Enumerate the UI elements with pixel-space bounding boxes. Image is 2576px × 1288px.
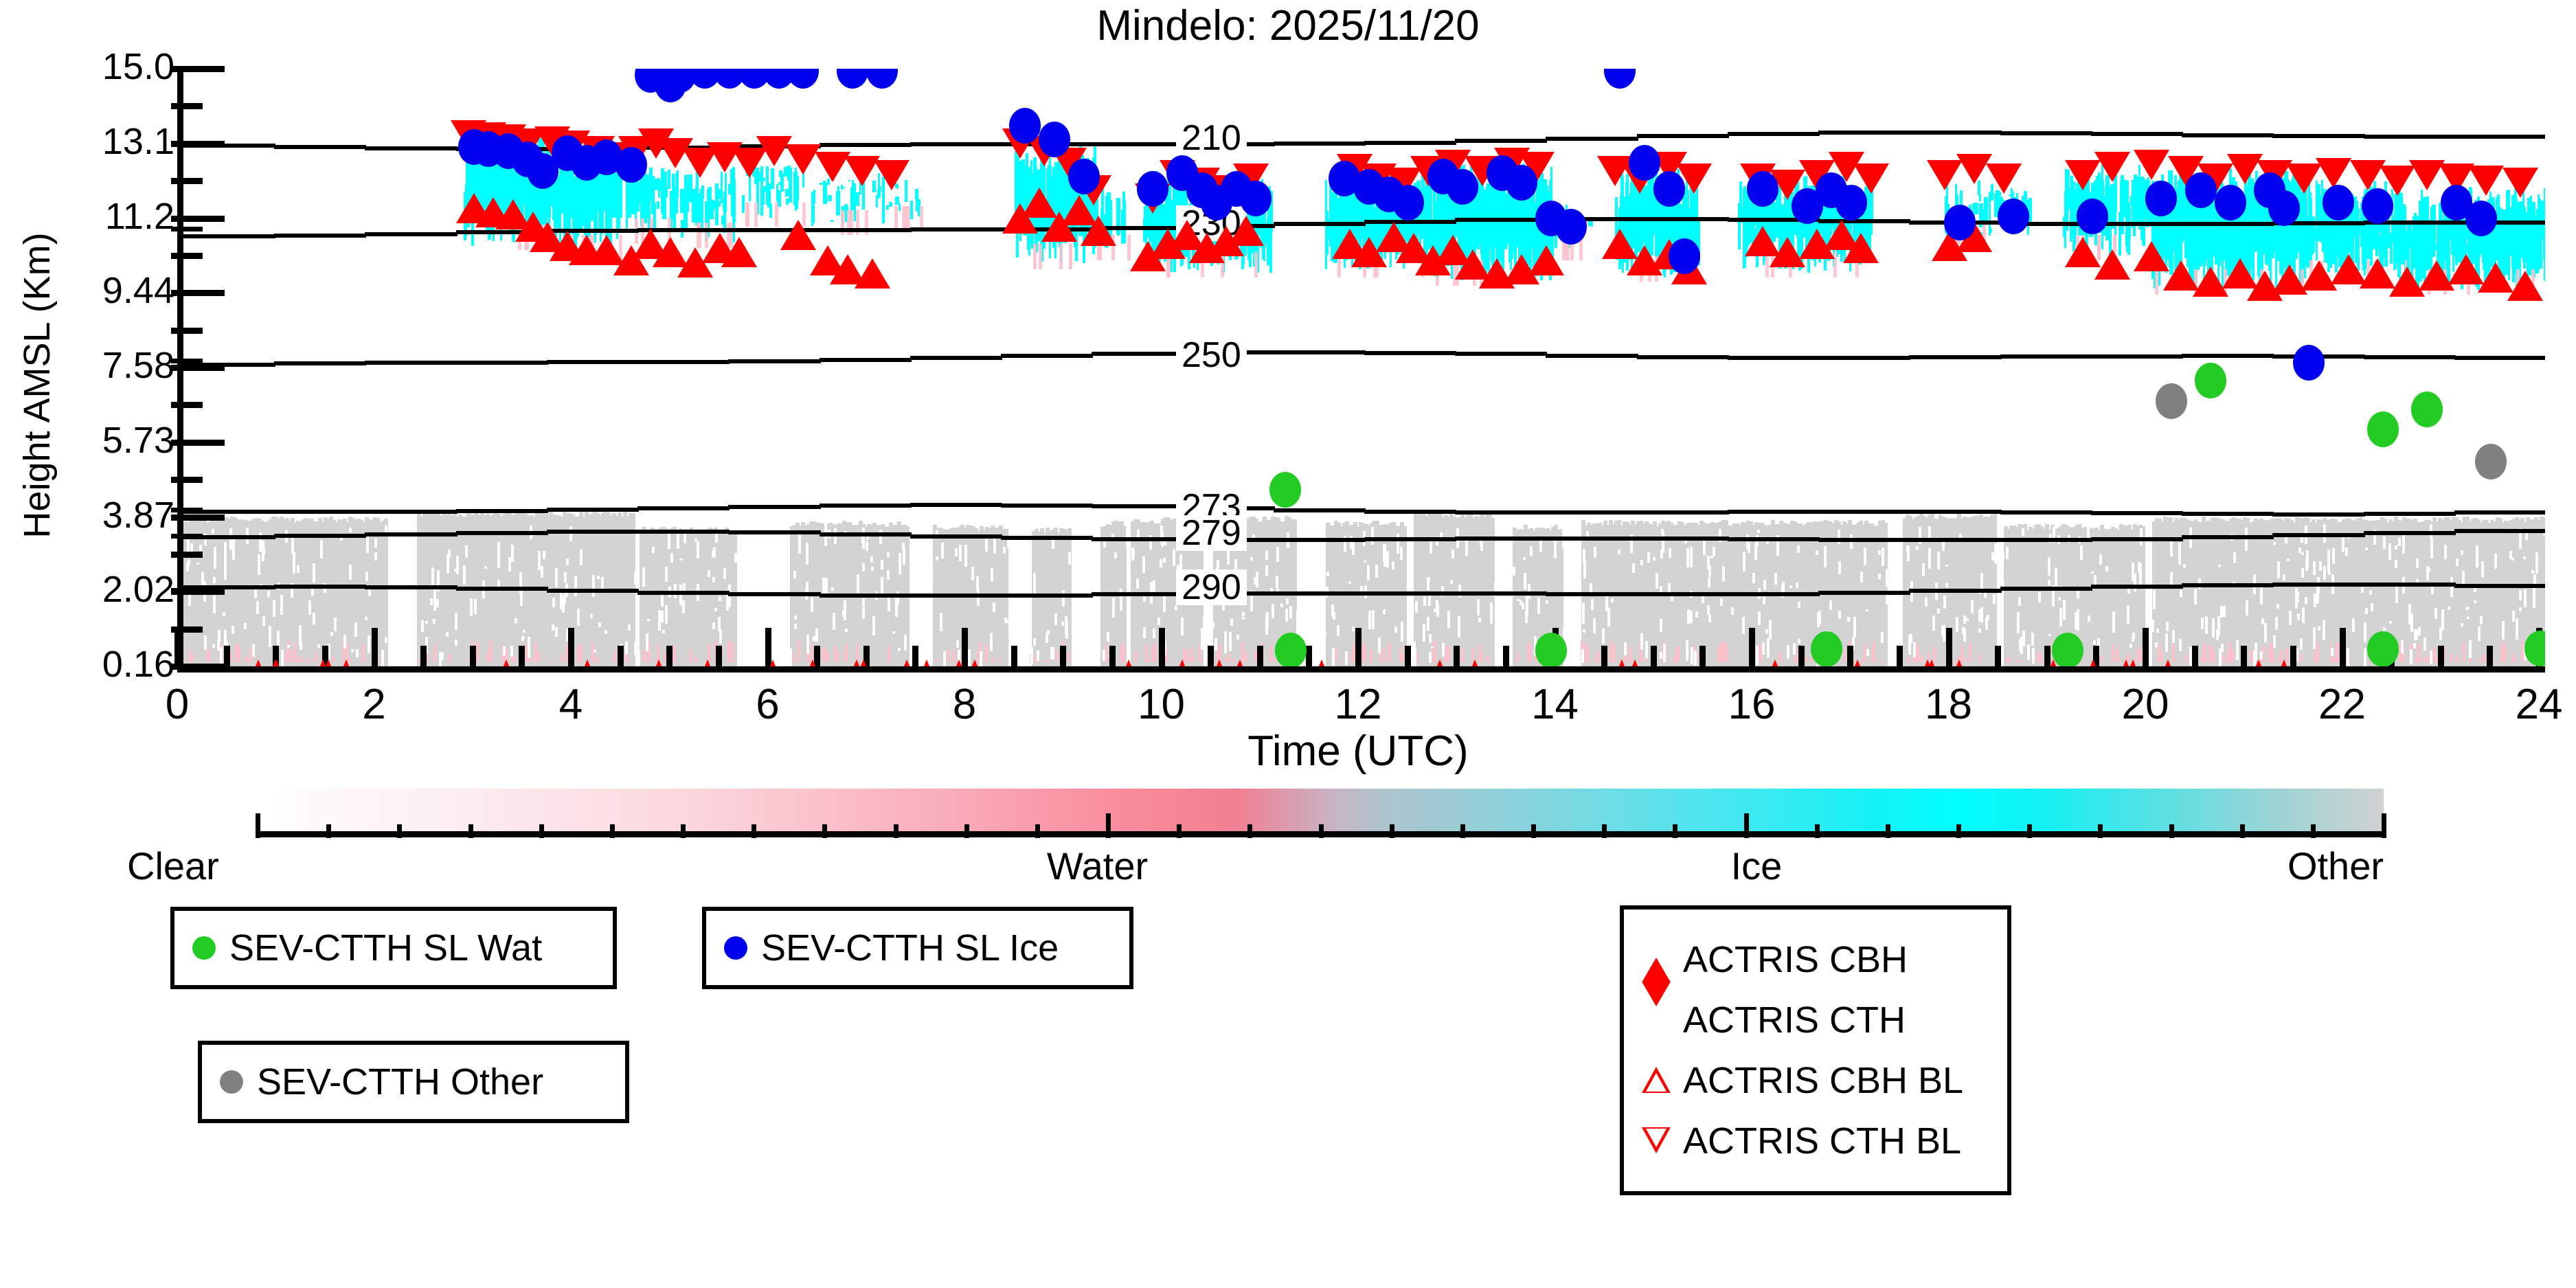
classification-gap <box>1647 552 1650 562</box>
classification-gap <box>2347 648 2349 666</box>
classification-cell <box>728 641 731 662</box>
classification-gap <box>2006 547 2009 559</box>
classification-cell <box>1059 244 1063 269</box>
classification-gap <box>2364 622 2366 642</box>
y-tick-minor <box>171 477 203 483</box>
isotherm-line <box>2454 510 2545 515</box>
classification-gap <box>887 552 890 557</box>
isotherm-line <box>910 227 1002 231</box>
classification-gap <box>2466 607 2469 610</box>
classification-gap <box>2201 618 2204 629</box>
classification-cell <box>2008 657 2011 662</box>
classification-gap <box>2413 643 2416 648</box>
classification-gap <box>1286 598 1289 605</box>
actris-cth-marker <box>874 160 909 190</box>
classification-cell <box>1907 662 1910 663</box>
classification-gap <box>1323 620 1326 632</box>
classification-gap <box>1103 541 1106 547</box>
classification-gap <box>374 539 377 547</box>
classification-gap <box>1582 603 1585 624</box>
classification-gap <box>1427 578 1430 590</box>
y-tick-label: 0.16 <box>0 643 174 686</box>
classification-gap <box>2313 561 2316 575</box>
actris-cbh-bl-marker <box>1315 659 1328 666</box>
classification-gap <box>1224 631 1227 653</box>
classification-gap <box>2019 639 2022 651</box>
classification-gap <box>1943 596 1946 609</box>
classification-gap <box>1945 583 1948 587</box>
actris-cbh-bl-marker <box>2087 659 2099 666</box>
x-tick-minor <box>1257 646 1263 666</box>
classification-gap <box>1661 529 1664 534</box>
classification-gap <box>2273 542 2276 545</box>
classification-gap <box>280 595 283 615</box>
isotherm-line <box>2091 132 2183 136</box>
isotherm-line <box>1818 356 1910 360</box>
classification-cell <box>1153 643 1156 662</box>
classification-gap <box>1371 527 1374 544</box>
classification-gap <box>1624 642 1627 656</box>
isotherm-line <box>1455 591 1547 596</box>
sev-ctth-sl-wat-marker <box>2052 633 2083 666</box>
classification-cell <box>1105 644 1108 662</box>
isotherm-line <box>1637 510 1729 515</box>
isotherm-line <box>2454 356 2545 360</box>
classification-gap <box>497 542 500 556</box>
isotherm-line <box>2364 583 2456 587</box>
legend-label: SEV-CTTH SL Ice <box>761 927 1059 969</box>
classification-gap <box>552 624 554 631</box>
classification-gap <box>1276 547 1279 562</box>
x-tick-minor <box>618 646 624 666</box>
isotherm-line <box>728 359 820 363</box>
classification-gap <box>662 630 665 633</box>
classification-gap <box>1415 601 1418 613</box>
isotherm-line <box>2182 512 2274 516</box>
x-tick-major <box>1355 628 1362 666</box>
classification-gap <box>1640 560 1643 565</box>
classification-gap <box>637 651 640 666</box>
classification-gap <box>313 563 315 583</box>
sev-ctth-sl-ice-marker <box>1009 108 1041 144</box>
classification-cell <box>813 190 816 204</box>
classification-cell <box>2432 205 2435 247</box>
colorbar-tick-minor <box>1673 824 1677 838</box>
classification-cell <box>888 646 890 662</box>
classification-gap <box>2091 572 2094 574</box>
classification-gap <box>2094 575 2097 585</box>
classification-gap <box>1181 618 1184 636</box>
classification-cell <box>2221 663 2224 664</box>
classification-gap <box>862 598 865 607</box>
classification-gap <box>1653 557 1656 561</box>
classification-cell <box>1585 644 1588 662</box>
classification-gap <box>2127 605 2129 624</box>
classification-gap <box>1132 550 1135 558</box>
classification-cell <box>718 189 721 199</box>
classification-gap <box>277 631 280 646</box>
isotherm-line <box>1274 142 1366 146</box>
classification-gap <box>2297 613 2300 620</box>
colorbar-tick-minor <box>1531 824 1536 838</box>
colorbar-tick-major <box>1106 813 1111 838</box>
classification-cell <box>2456 655 2459 662</box>
classification-gap <box>1272 604 1274 618</box>
classification-gap <box>1687 609 1690 624</box>
classification-gap <box>1033 638 1036 645</box>
classification-cell <box>1067 528 1072 666</box>
legend-label: ACTRIS CBH BL <box>1683 1059 1963 1102</box>
classification-gap <box>574 576 577 596</box>
classification-gap <box>1690 547 1693 567</box>
classification-gap <box>256 601 259 614</box>
classification-gap <box>1962 627 1965 634</box>
classification-gap <box>2255 643 2257 661</box>
classification-cell <box>2185 655 2188 662</box>
classification-cell <box>466 660 469 662</box>
classification-gap <box>1668 583 1671 592</box>
legend-actris[interactable]: ACTRIS CBH ACTRIS CTH ACTRIS CBH BL ACTR… <box>1620 905 2011 1195</box>
x-tick-minor <box>1060 646 1066 666</box>
classification-cell <box>476 642 479 662</box>
legend-item-cbh: ACTRIS CBH <box>1642 929 1989 990</box>
classification-gap <box>1720 598 1723 605</box>
classification-gap <box>2218 565 2221 567</box>
classification-gap <box>798 534 801 553</box>
classification-gap <box>2388 543 2391 560</box>
classification-gap <box>1894 567 1897 571</box>
classification-gap <box>712 577 715 583</box>
classification-gap <box>2260 651 2263 659</box>
classification-gap <box>1793 643 1796 655</box>
classification-gap <box>1816 550 1818 555</box>
classification-gap <box>2519 607 2522 611</box>
classification-gap <box>1798 639 1800 644</box>
isotherm-line <box>183 144 275 148</box>
y-tick-label: 3.87 <box>0 494 174 536</box>
isotherm-line <box>2364 512 2456 516</box>
classification-cell <box>2228 649 2230 662</box>
isotherm-line <box>183 363 275 367</box>
classification-gap <box>224 630 227 637</box>
classification-cell <box>2317 196 2320 233</box>
classification-gap <box>844 600 846 620</box>
x-tick-minor <box>2241 646 2247 666</box>
isotherm-line <box>2272 512 2364 517</box>
x-tick-label: 2 <box>319 680 429 729</box>
actris-cbh-bl-marker <box>953 659 965 666</box>
classification-gap <box>1301 594 1304 608</box>
classification-gap <box>1796 583 1798 588</box>
classification-cell <box>642 651 645 662</box>
x-tick-minor <box>1699 646 1706 666</box>
classification-gap <box>414 633 416 640</box>
classification-gap <box>1925 597 1928 607</box>
classification-gap <box>714 608 717 611</box>
classification-gap <box>1054 613 1057 625</box>
isotherm-line <box>1274 350 1366 354</box>
classification-gap <box>390 618 393 631</box>
classification-cell <box>495 662 498 662</box>
classification-gap <box>1991 552 1994 561</box>
classification-gap <box>1242 617 1245 620</box>
classification-cell <box>1916 644 1919 662</box>
classification-cell <box>2501 642 2504 662</box>
classification-gap <box>1563 629 1566 636</box>
classification-gap <box>718 617 721 631</box>
classification-gap <box>1386 551 1389 567</box>
legend-item: SEV-CTTH SL Wat <box>192 918 595 978</box>
classification-cell <box>2112 644 2114 662</box>
classification-gap <box>1525 611 1528 623</box>
classification-cell <box>513 657 516 662</box>
classification-gap <box>343 635 346 648</box>
isotherm-line <box>1818 131 1910 135</box>
classification-cell <box>798 641 800 662</box>
classification-gap <box>320 540 323 558</box>
x-tick-major <box>372 628 378 666</box>
classification-cell <box>1335 648 1337 662</box>
classification-gap <box>936 556 938 561</box>
x-tick-label: 6 <box>713 680 823 729</box>
classification-gap <box>564 572 567 583</box>
classification-gap <box>1708 615 1711 622</box>
classification-gap <box>258 554 260 575</box>
classification-cell <box>681 662 684 663</box>
isotherm-line <box>1455 139 1547 143</box>
classification-gap <box>2467 617 2470 619</box>
classification-gap <box>218 630 221 642</box>
classification-gap <box>262 541 264 561</box>
classification-gap <box>1203 622 1206 626</box>
classification-gap <box>385 637 387 643</box>
actris-cbh-bl-marker <box>252 659 264 666</box>
classification-gap <box>1994 543 1997 563</box>
classification-cell <box>999 659 1002 662</box>
actris-cbh-bl-marker <box>1434 659 1446 666</box>
classification-gap <box>1748 543 1750 553</box>
classification-gap <box>1285 609 1288 622</box>
classification-gap <box>941 543 944 558</box>
classification-gap <box>1691 647 1693 664</box>
classification-gap <box>2395 594 2398 603</box>
isotherm-label: 279 <box>1176 515 1247 551</box>
classification-cell <box>417 659 420 662</box>
classification-gap <box>510 646 513 657</box>
classification-cell <box>1979 194 1982 201</box>
classification-gap <box>697 541 699 558</box>
sev-ctth-sl-ice-marker <box>2215 185 2246 221</box>
classification-gap <box>1175 606 1177 610</box>
classification-gap <box>1477 599 1480 616</box>
classification-gap <box>484 566 487 569</box>
classification-gap <box>2434 608 2437 619</box>
classification-gap <box>712 622 715 629</box>
classification-cell <box>1383 648 1386 662</box>
y-tick-major <box>171 440 225 446</box>
classification-cell <box>654 179 657 190</box>
classification-cell <box>1147 659 1150 662</box>
sev-ctth-sl-ice-marker <box>1447 169 1478 205</box>
classification-gap <box>1916 546 1919 549</box>
classification-gap <box>985 539 988 552</box>
isotherm-line <box>637 530 730 534</box>
classification-gap <box>1427 617 1430 630</box>
classification-gap <box>287 645 290 648</box>
x-tick-minor <box>1897 646 1903 666</box>
isotherm-line <box>1909 538 2001 542</box>
classification-gap <box>425 621 428 624</box>
plot-clip <box>183 69 2545 666</box>
isotherm-label: 250 <box>1176 337 1247 373</box>
classification-gap <box>646 633 648 651</box>
isotherm-line <box>1546 354 1638 358</box>
isotherm-line <box>2364 355 2456 359</box>
classification-gap <box>1033 573 1036 594</box>
classification-gap <box>743 622 746 633</box>
classification-gap <box>1280 603 1283 607</box>
classification-cell <box>1675 648 1678 662</box>
actris-cth-marker <box>1986 163 2022 194</box>
isotherm-line <box>820 358 912 362</box>
x-tick-major <box>568 628 574 666</box>
classification-gap <box>911 589 914 611</box>
classification-gap <box>311 588 314 596</box>
classification-cell <box>1056 649 1059 662</box>
classification-cell <box>677 170 679 198</box>
classification-gap <box>903 547 905 564</box>
classification-cell <box>823 183 826 204</box>
classification-gap <box>1160 559 1162 567</box>
colorbar-tick-minor <box>964 824 969 838</box>
classification-gap <box>1838 561 1841 574</box>
classification-cell <box>1969 643 1971 662</box>
isotherm-line <box>1001 354 1093 358</box>
isotherm-line <box>456 361 548 365</box>
classification-gap <box>940 613 942 632</box>
classification-gap <box>1300 579 1302 582</box>
classification-gap <box>1451 550 1454 558</box>
classification-gap <box>2275 617 2278 630</box>
classification-gap <box>2170 540 2173 556</box>
classification-gap <box>1498 563 1500 578</box>
classification-gap <box>1583 629 1585 633</box>
actris-cbh-bl-marker <box>857 659 870 666</box>
classification-gap <box>1429 652 1432 663</box>
classification-cell <box>2213 662 2216 663</box>
classification-cell <box>549 662 552 662</box>
classification-cell <box>698 223 701 248</box>
classification-gap <box>2170 572 2173 585</box>
classification-gap <box>2365 608 2368 614</box>
isotherm-line <box>2272 134 2364 138</box>
classification-gap <box>1971 600 1974 613</box>
classification-cell <box>653 203 656 228</box>
classification-gap <box>267 591 270 596</box>
classification-gap <box>456 556 459 574</box>
classification-gap <box>1408 563 1410 571</box>
classification-gap <box>528 637 530 658</box>
classification-gap <box>2236 640 2239 660</box>
isotherm-line <box>1909 355 2001 359</box>
classification-gap <box>2002 552 2004 561</box>
classification-gap <box>682 600 685 614</box>
isotherm-line <box>2454 529 2545 533</box>
classification-cell <box>1388 643 1391 662</box>
classification-gap <box>794 624 797 629</box>
classification-gap <box>349 528 352 532</box>
classification-gap <box>421 620 424 632</box>
isotherm-line <box>1364 591 1456 596</box>
classification-gap <box>2430 651 2432 664</box>
classification-gap <box>1640 633 1643 650</box>
classification-cell <box>668 170 670 189</box>
classification-gap <box>2283 574 2285 580</box>
classification-gap <box>455 640 457 646</box>
classification-cell <box>433 645 436 662</box>
classification-gap <box>594 650 596 653</box>
classification-gap <box>1752 573 1755 584</box>
classification-gap <box>647 619 650 622</box>
classification-gap <box>2478 626 2481 637</box>
classification-gap <box>1763 580 1766 590</box>
classification-gap <box>204 635 207 650</box>
classification-gap <box>2264 623 2267 642</box>
classification-gap <box>661 611 664 622</box>
legend-sev-ctth-other[interactable]: SEV-CTTH Other <box>198 1041 629 1123</box>
legend-sev-ctth-sl-wat[interactable]: SEV-CTTH SL Wat <box>170 907 617 989</box>
classification-gap <box>2441 609 2444 631</box>
colorbar-tick-minor <box>1177 824 1182 838</box>
circle-icon <box>192 936 216 960</box>
isotherm-line <box>2000 131 2092 135</box>
classification-gap <box>2306 550 2309 568</box>
classification-gap <box>993 602 995 611</box>
classification-gap <box>1265 613 1268 634</box>
classification-gap <box>1447 611 1450 629</box>
sev-ctth-sl-ice-marker <box>1629 145 1660 181</box>
sev-ctth-sl-wat-marker <box>1811 631 1842 666</box>
classification-gap <box>291 538 294 554</box>
classification-cell <box>2299 654 2302 662</box>
classification-gap <box>2474 600 2476 603</box>
classification-gap <box>1352 626 1355 631</box>
actris-cbh-bl-marker <box>1629 659 1641 666</box>
classification-cell <box>384 519 388 666</box>
classification-gap <box>1143 627 1146 638</box>
colorbar[interactable] <box>258 789 2384 831</box>
classification-gap <box>1024 527 1026 532</box>
classification-gap <box>1523 557 1526 560</box>
y-tick-label: 7.58 <box>0 344 174 387</box>
classification-cell <box>1724 642 1726 662</box>
classification-gap <box>2287 558 2290 562</box>
x-tick-label: 16 <box>1697 680 1807 729</box>
y-tick-label: 13.1 <box>0 120 174 163</box>
classification-gap <box>2364 648 2366 666</box>
x-tick-major <box>1946 628 1952 666</box>
classification-gap <box>2223 606 2226 617</box>
sev-ctth-sl-wat-marker <box>1535 633 1567 666</box>
classification-gap <box>1611 598 1614 602</box>
classification-cell <box>2316 641 2318 662</box>
legend-sev-ctth-sl-ice[interactable]: SEV-CTTH SL Ice <box>702 907 1133 989</box>
classification-gap <box>365 572 368 581</box>
colorbar-tick-minor <box>1319 824 1324 838</box>
classification-gap <box>670 553 673 563</box>
classification-cell <box>1609 641 1612 662</box>
isotherm-line <box>1546 137 1638 141</box>
